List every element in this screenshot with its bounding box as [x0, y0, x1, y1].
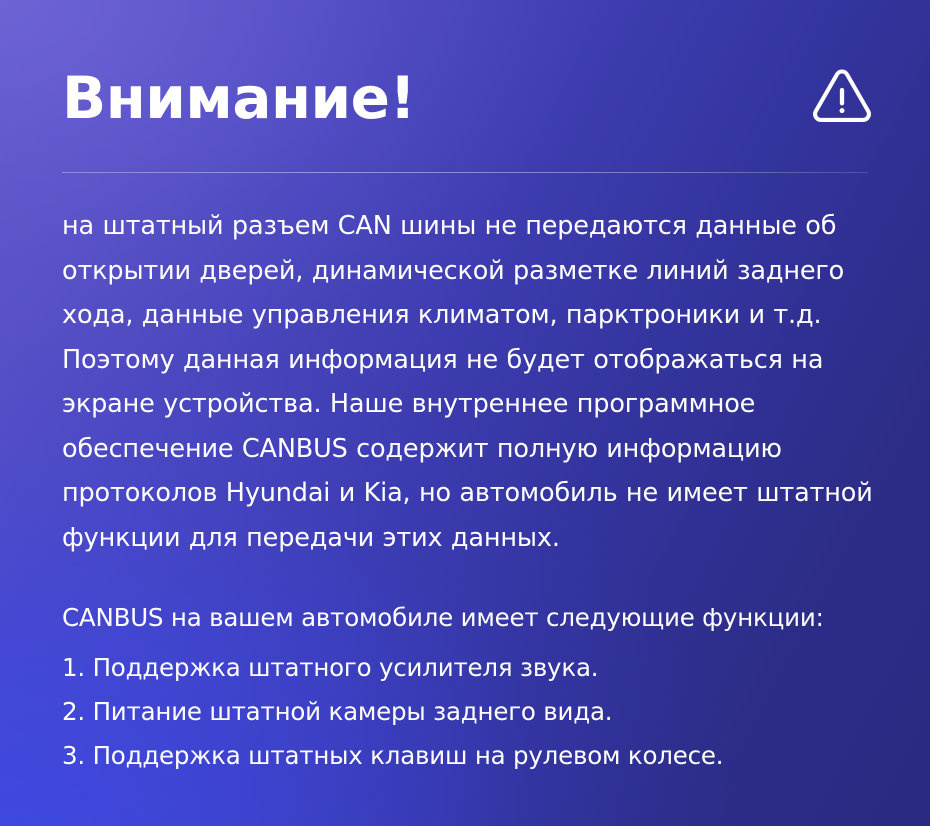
functions-list: 1. Поддержка штатного усилителя звука. 2… — [62, 646, 874, 778]
warning-notice-card: Внимание! на штатный разъем CAN шины не … — [0, 0, 930, 826]
list-item: 1. Поддержка штатного усилителя звука. — [62, 646, 874, 690]
notice-header: Внимание! — [62, 52, 875, 144]
notice-body: на штатный разъем CAN шины не передаются… — [62, 204, 874, 778]
page-title: Внимание! — [62, 69, 415, 127]
header-divider — [62, 172, 868, 173]
functions-section: CANBUS на вашем автомобиле имеет следующ… — [62, 596, 874, 778]
intro-paragraph: на штатный разъем CAN шины не передаются… — [62, 204, 882, 560]
list-item: 2. Питание штатной камеры заднего вида. — [62, 690, 874, 734]
warning-triangle-icon — [811, 67, 873, 129]
functions-intro-text: CANBUS на вашем автомобиле имеет следующ… — [62, 596, 874, 640]
list-item: 3. Поддержка штатных клавиш на рулевом к… — [62, 734, 874, 778]
